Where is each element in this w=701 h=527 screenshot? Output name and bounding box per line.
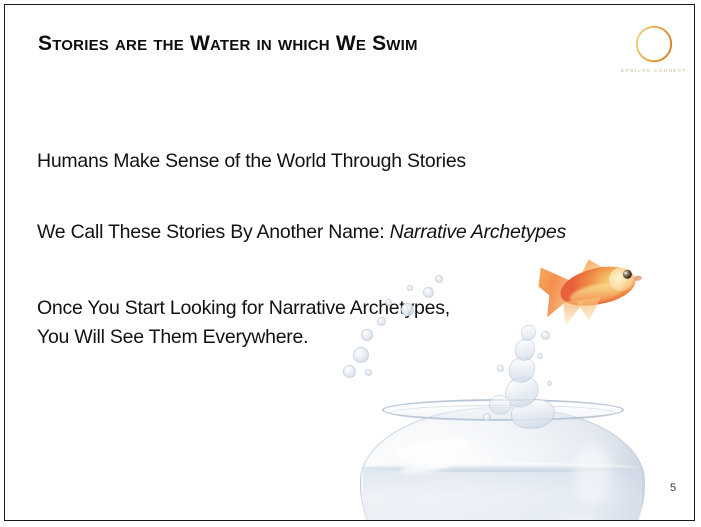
droplet-trail [339, 273, 459, 393]
water-droplet [483, 413, 491, 421]
fish-mouth [633, 275, 642, 282]
water-droplet [497, 365, 504, 372]
water-droplet [385, 299, 392, 306]
brand-logo: EPSILON CONNECT [613, 21, 695, 83]
page-number: 5 [661, 482, 685, 494]
bowl-highlight [574, 445, 612, 505]
logo-wordmark: EPSILON CONNECT [613, 68, 695, 73]
body-line-2: We Call These Stories By Another Name: N… [37, 221, 566, 244]
water-droplet [407, 285, 413, 291]
water-droplet [401, 303, 414, 316]
water-droplet [343, 365, 356, 378]
water-droplet [547, 381, 552, 386]
body-line-2-italic: Narrative Archetypes [390, 221, 566, 243]
water-droplet [541, 331, 550, 340]
presentation-slide: Stories are the Water in which We Swim E… [4, 4, 695, 521]
splash-blob [515, 339, 535, 361]
water-droplet [353, 347, 369, 363]
epsilon-circle-mark-icon [627, 21, 681, 67]
goldfish [534, 244, 653, 331]
water-droplet [435, 275, 443, 283]
water-droplet [377, 317, 386, 326]
water-droplet [423, 287, 434, 298]
body-line-4: You Will See Them Everywhere. [37, 326, 308, 349]
water-droplet [365, 369, 372, 376]
goldfish-jumping-photo [335, 245, 665, 521]
splash-blob [521, 325, 536, 341]
water-droplet [361, 329, 373, 341]
slide-title: Stories are the Water in which We Swim [38, 33, 418, 54]
body-line-2-plain: We Call These Stories By Another Name: [37, 221, 384, 243]
water-droplet [537, 353, 543, 359]
body-line-1: Humans Make Sense of the World Through S… [37, 150, 466, 173]
water-splash [481, 323, 571, 431]
